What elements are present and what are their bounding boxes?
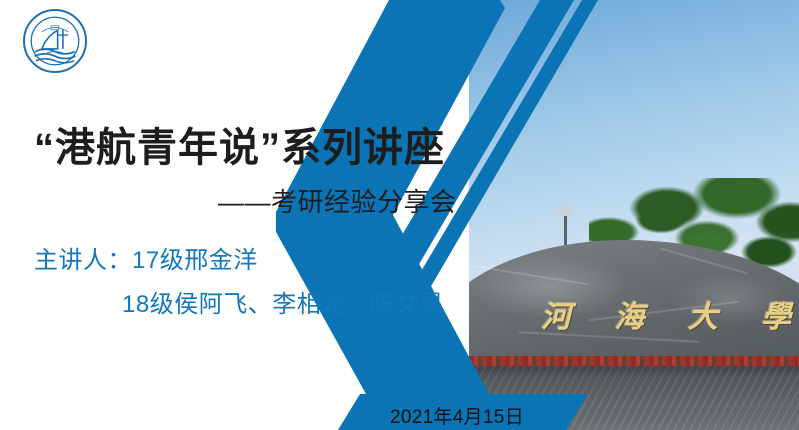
carved-char-4: 學 [761,292,791,336]
event-date: 2021年4月15日 [390,402,524,429]
page-title: “港航青年说”系列讲座 [34,115,445,173]
speaker-line-2: 18级侯阿飞、李相龙、陈文昊 [122,284,444,319]
page-subtitle: ——考研经验分享会 [218,182,457,219]
speaker-line-1: 主讲人：17级邢金洋 [34,240,258,275]
carved-char-3: 大 [688,292,718,336]
carved-university-name: 河 海 大 學 [541,292,791,336]
lecture-poster: 河 海 大 學 “港航青年说”系列讲座 ——考研经验分享会 主讲人：17级邢 [0,0,799,430]
university-logo [22,8,88,74]
carved-char-2: 海 [614,292,644,336]
carved-char-1: 河 [541,292,571,336]
street-lamp-icon [564,213,567,245]
